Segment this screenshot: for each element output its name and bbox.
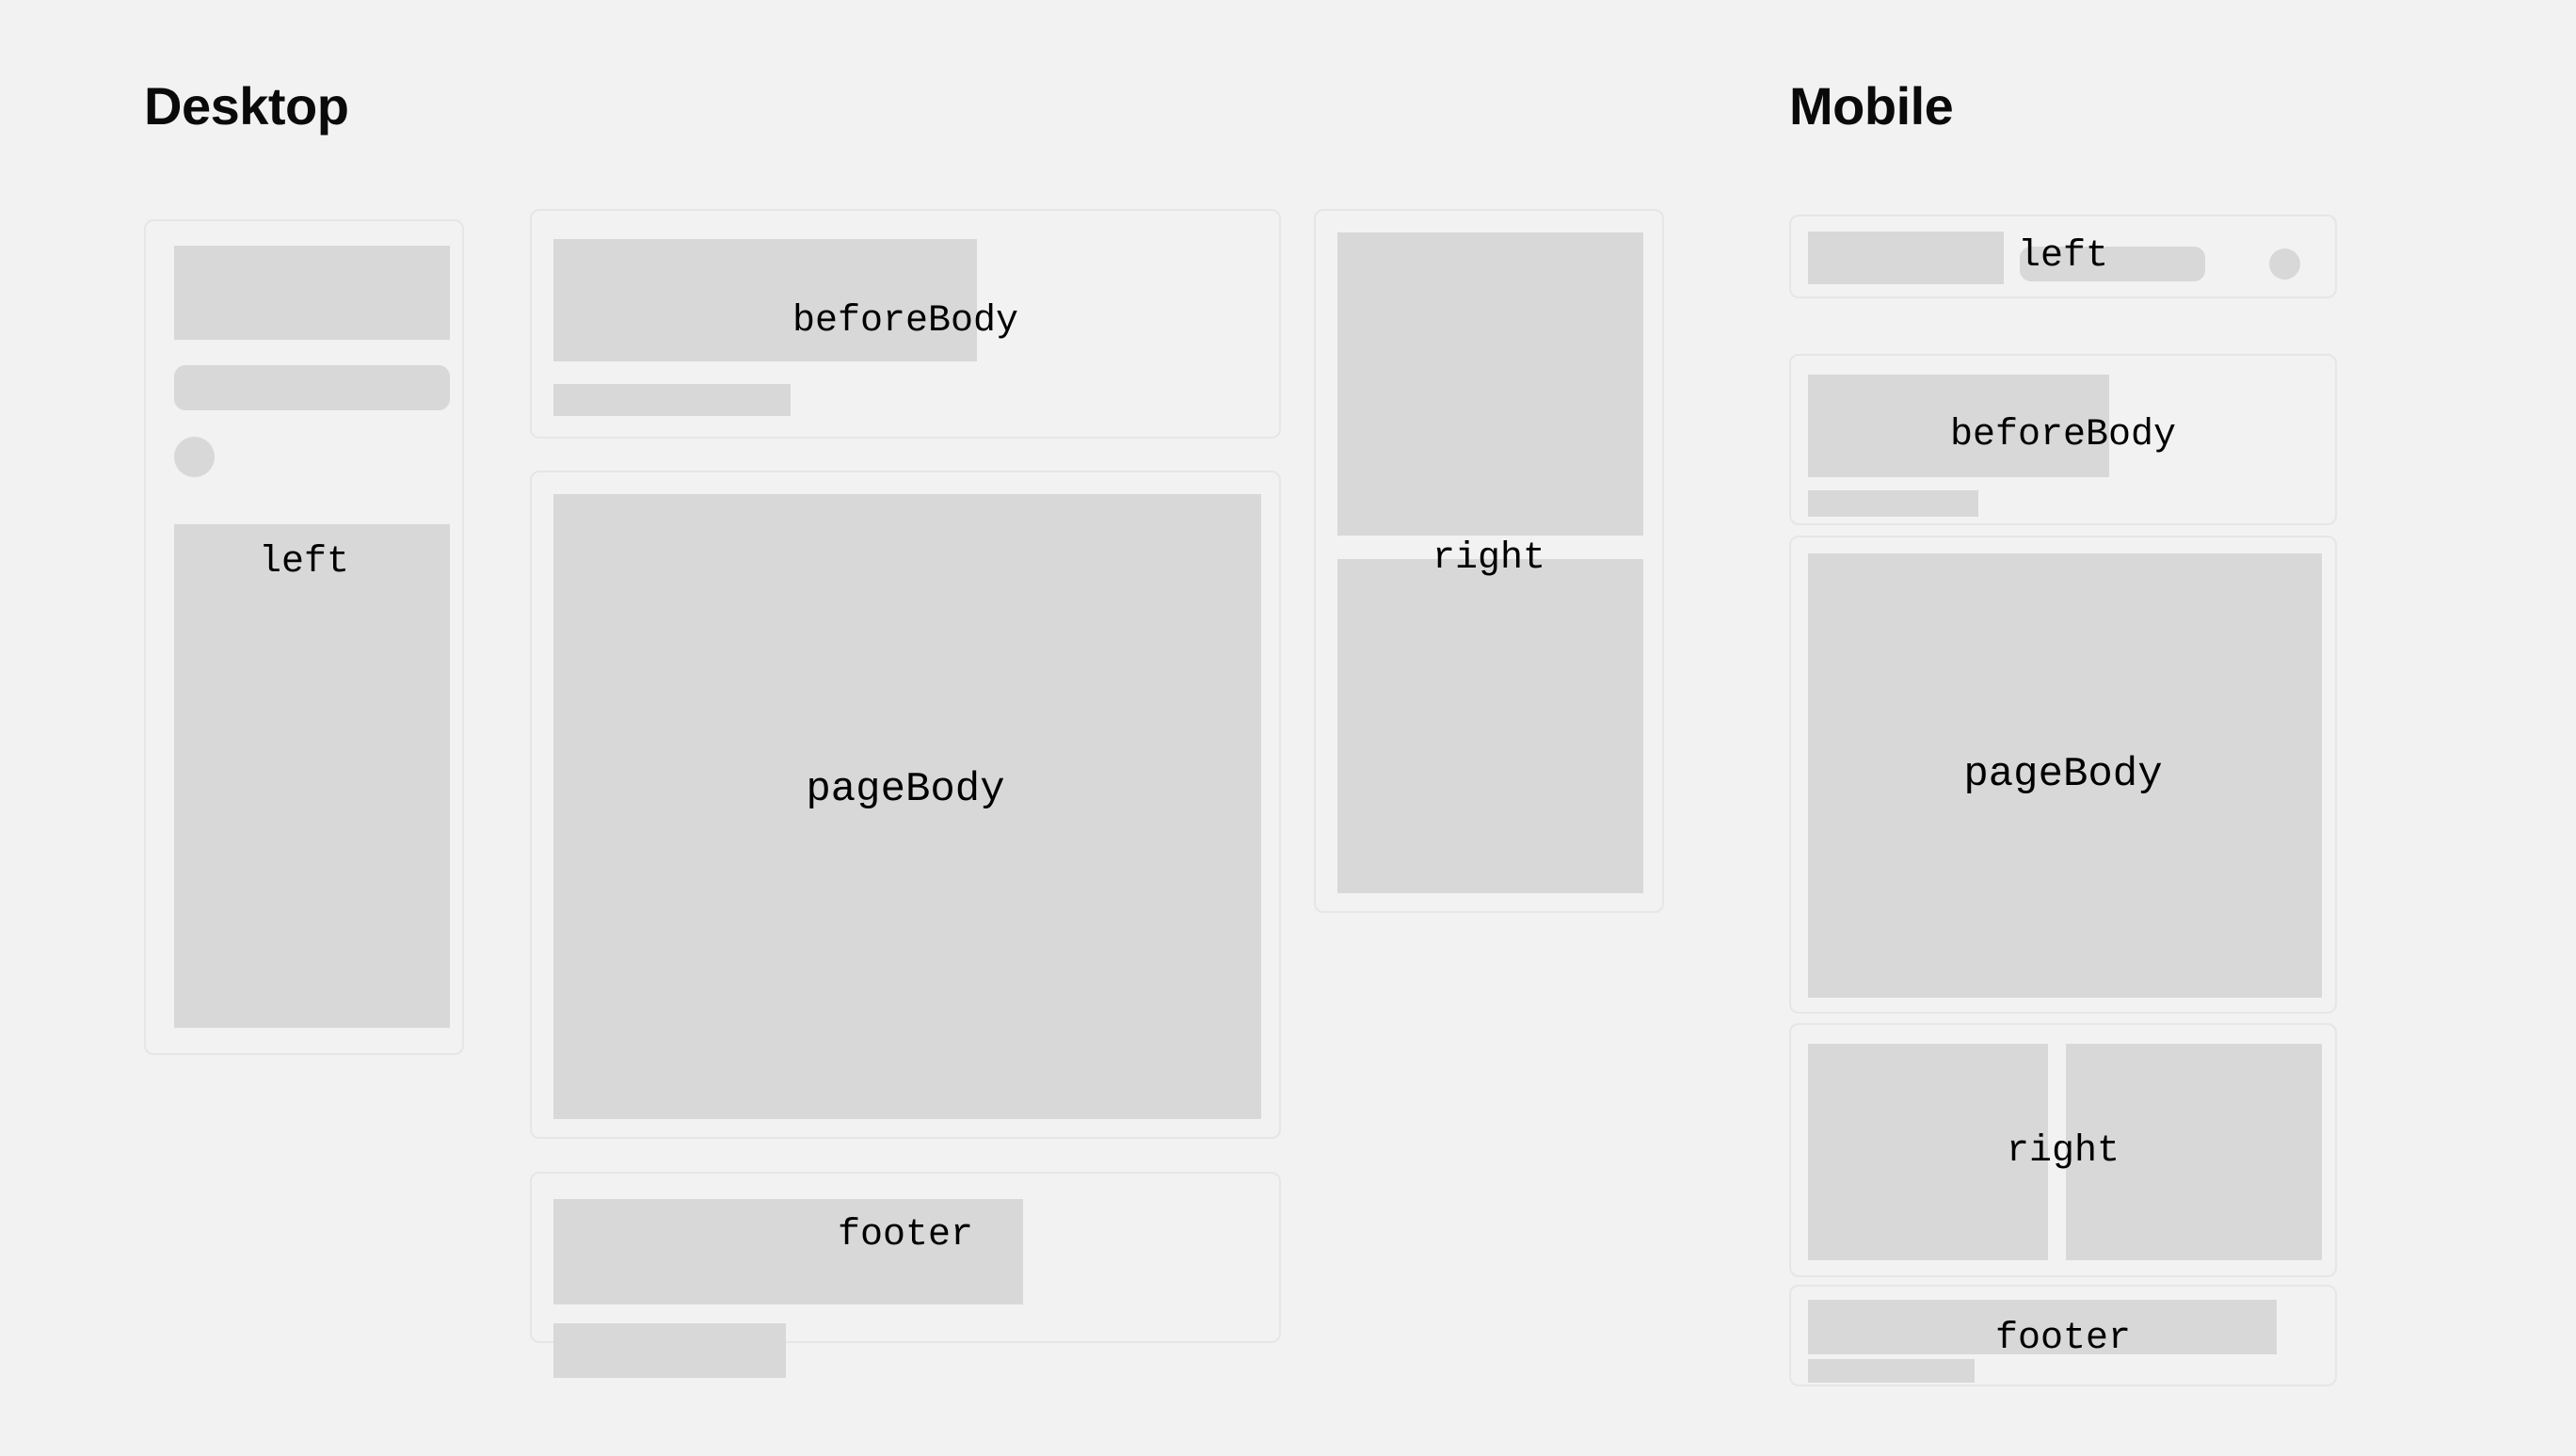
mobile-footer-block-large bbox=[1808, 1300, 2277, 1354]
mobile-page-body-panel[interactable] bbox=[1789, 536, 2337, 1014]
desktop-footer-block-small bbox=[553, 1323, 786, 1378]
desktop-right-panel[interactable] bbox=[1314, 209, 1664, 913]
mobile-before-body-block-large bbox=[1808, 375, 2109, 477]
desktop-before-body-panel[interactable] bbox=[530, 209, 1281, 439]
mobile-left-block-circle bbox=[2269, 248, 2300, 280]
desktop-before-body-block-large bbox=[553, 239, 977, 361]
mobile-left-block-rect-wide bbox=[1808, 232, 2004, 284]
desktop-page-body-panel[interactable] bbox=[530, 471, 1281, 1139]
mobile-right-panel[interactable] bbox=[1789, 1023, 2337, 1277]
desktop-right-block-top bbox=[1337, 232, 1643, 536]
desktop-left-block-rect-wide bbox=[174, 246, 450, 340]
desktop-before-body-block-small bbox=[553, 384, 791, 416]
desktop-right-block-bottom bbox=[1337, 559, 1643, 893]
desktop-left-panel[interactable] bbox=[144, 219, 464, 1055]
wireframe-canvas: Desktop left beforeBody pageBody right f… bbox=[0, 0, 2576, 1456]
mobile-page-body-block bbox=[1808, 553, 2322, 998]
mobile-left-block-pill-wide bbox=[2020, 247, 2205, 281]
desktop-page-body-block bbox=[553, 494, 1261, 1119]
mobile-left-panel[interactable] bbox=[1789, 215, 2337, 298]
mobile-before-body-panel[interactable] bbox=[1789, 354, 2337, 525]
desktop-footer-block-large bbox=[553, 1199, 1023, 1304]
desktop-footer-panel[interactable] bbox=[530, 1172, 1281, 1343]
mobile-footer-block-small bbox=[1808, 1359, 1975, 1383]
mobile-section-title: Mobile bbox=[1789, 80, 1953, 133]
desktop-left-block-tall bbox=[174, 524, 450, 1028]
mobile-before-body-block-small bbox=[1808, 490, 1978, 517]
desktop-section-title: Desktop bbox=[144, 80, 348, 133]
desktop-left-block-circle bbox=[174, 437, 215, 477]
mobile-right-block-left bbox=[1808, 1044, 2048, 1260]
mobile-right-block-right bbox=[2066, 1044, 2322, 1260]
mobile-footer-panel[interactable] bbox=[1789, 1285, 2337, 1386]
desktop-left-block-pill-wide bbox=[174, 365, 450, 410]
